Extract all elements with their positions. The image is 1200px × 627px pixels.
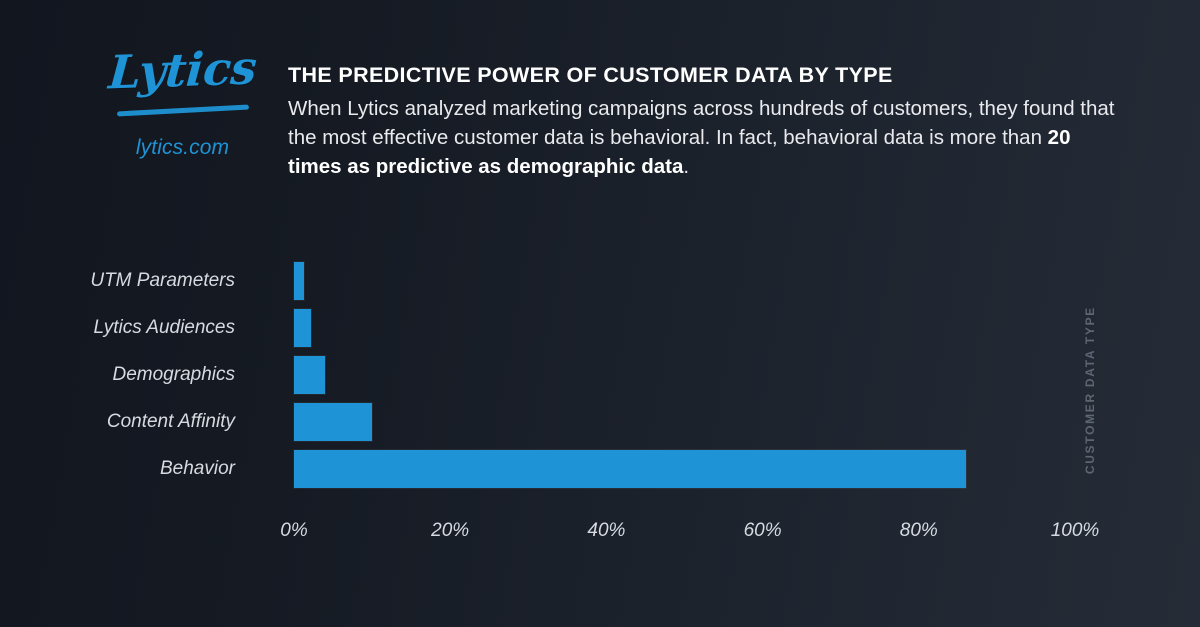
bar-category-label: UTM Parameters — [0, 262, 235, 300]
bar-category-label: Behavior — [0, 450, 235, 488]
infographic-canvas: Lytics lytics.com THE PREDICTIVE POWER O… — [0, 0, 1200, 627]
bar-row: UTM Parameters — [294, 262, 1075, 300]
bar-segment — [294, 356, 325, 394]
bar-chart: UTM ParametersLytics AudiencesDemographi… — [0, 200, 1200, 627]
bar-row: Behavior — [294, 450, 1075, 488]
x-axis-tick-label: 80% — [900, 520, 938, 542]
page-title: THE PREDICTIVE POWER OF CUSTOMER DATA BY… — [288, 62, 1118, 90]
bar-segment — [294, 309, 311, 347]
x-axis-tick-label: 0% — [280, 520, 307, 542]
x-axis-tick-label: 40% — [587, 520, 625, 542]
header: Lytics lytics.com THE PREDICTIVE POWER O… — [0, 0, 1200, 200]
headline-block: THE PREDICTIVE POWER OF CUSTOMER DATA BY… — [288, 62, 1118, 181]
bar-segment — [294, 403, 372, 441]
lytics-script-logo-icon: Lytics — [93, 43, 272, 97]
chart-x-axis: 0%20%40%60%80%100% — [294, 520, 1075, 554]
bar-segment — [294, 262, 304, 300]
logo-underline-flourish — [117, 105, 249, 117]
x-axis-tick-label: 20% — [431, 520, 469, 542]
bar-row: Lytics Audiences — [294, 309, 1075, 347]
x-axis-tick-label: 100% — [1051, 520, 1100, 542]
bar-category-label: Lytics Audiences — [0, 309, 235, 347]
bar-category-label: Demographics — [0, 356, 235, 394]
subhead-paragraph: When Lytics analyzed marketing campaigns… — [288, 94, 1118, 181]
brand-url-link[interactable]: lytics.com — [95, 136, 270, 160]
bar-segment — [294, 450, 966, 488]
brand-block: Lytics lytics.com — [95, 46, 270, 160]
y-axis-title-label: CUSTOMER DATA TYPE — [1083, 306, 1097, 474]
bar-row: Content Affinity — [294, 403, 1075, 441]
subhead-text-lead: When Lytics analyzed marketing campaigns… — [288, 97, 1115, 149]
x-axis-tick-label: 60% — [744, 520, 782, 542]
subhead-text-trail: . — [683, 155, 689, 178]
bar-row: Demographics — [294, 356, 1075, 394]
bar-category-label: Content Affinity — [0, 403, 235, 441]
chart-y-axis-title: CUSTOMER DATA TYPE — [1078, 290, 1102, 490]
chart-plot-area: UTM ParametersLytics AudiencesDemographi… — [294, 262, 1075, 520]
